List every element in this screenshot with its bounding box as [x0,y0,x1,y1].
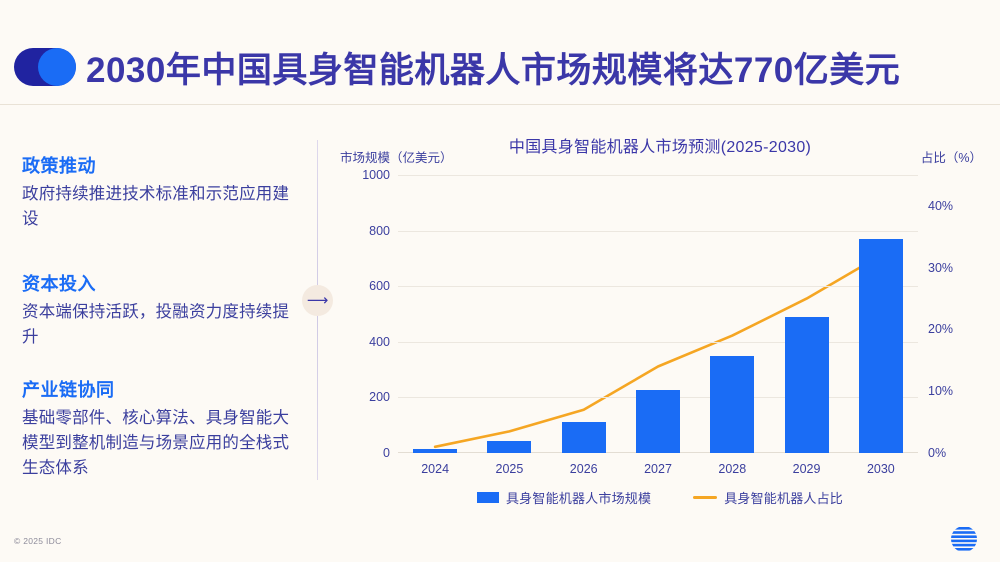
bar-2029 [785,317,829,453]
x-axis-tick-label: 2024 [421,462,449,476]
y-axis-tick-label: 400 [369,335,390,349]
arrow-right-icon: ⟶ [302,285,333,316]
market-forecast-chart: 中国具身智能机器人市场预测(2025-2030) 市场规模（亿美元） 占比（%）… [330,125,990,525]
y2-axis-label: 占比（%） [921,147,982,166]
legend-label: 具身智能机器人市场规模 [506,488,651,507]
badge-circle-icon [38,48,76,86]
legend-bar-swatch-icon [477,492,499,503]
key-point-title: 资本投入 [22,270,290,296]
x-axis-tick-label: 2025 [496,462,524,476]
bar-2030 [859,239,903,453]
chart-legend: 具身智能机器人市场规模 具身智能机器人占比 [330,488,990,507]
key-point-title: 产业链协同 [22,376,290,402]
y2-axis-tick-label: 40% [928,199,953,213]
bar-2026 [562,422,606,453]
y-axis-tick-label: 200 [369,390,390,404]
bar-2027 [636,390,680,453]
gridline [398,342,918,343]
copyright-text: © 2025 IDC [14,536,62,546]
bar-2028 [710,356,754,453]
y-axis-tick-label: 600 [369,279,390,293]
y-axis-tick-label: 800 [369,224,390,238]
y2-axis-tick-label: 30% [928,261,953,275]
key-point-item: 产业链协同 基础零部件、核心算法、具身智能大模型到整机制造与场景应用的全栈式生态… [22,376,290,481]
key-point-item: 政策推动 政府持续推进技术标准和示范应用建设 [22,152,290,232]
legend-label: 具身智能机器人占比 [724,488,843,507]
bar-2024 [413,449,457,453]
y2-axis-tick-label: 10% [928,384,953,398]
y2-axis-tick-label: 20% [928,322,953,336]
x-axis-tick-label: 2028 [718,462,746,476]
pill-badge-icon [14,48,76,86]
key-point-body: 政府持续推进技术标准和示范应用建设 [22,182,290,232]
x-axis-tick-label: 2027 [644,462,672,476]
key-point-item: 资本投入 资本端保持活跃，投融资力度持续提升 [22,270,290,350]
key-point-body: 资本端保持活跃，投融资力度持续提升 [22,300,290,350]
y-axis-label: 市场规模（亿美元） [340,147,453,166]
gridline [398,231,918,232]
page-title: 2030年中国具身智能机器人市场规模将达770亿美元 [86,42,900,93]
x-axis-tick-label: 2030 [867,462,895,476]
key-points-panel: 政策推动 政府持续推进技术标准和示范应用建设 资本投入 资本端保持活跃，投融资力… [0,118,300,508]
key-point-body: 基础零部件、核心算法、具身智能大模型到整机制造与场景应用的全栈式生态体系 [22,406,290,481]
legend-line-swatch-icon [693,496,717,500]
y-axis-tick-label: 1000 [362,168,390,182]
plot-area: 020040060080010000%10%20%30%40%202420252… [398,175,918,453]
x-axis-tick-label: 2026 [570,462,598,476]
legend-item-line: 具身智能机器人占比 [693,488,843,507]
legend-item-bar: 具身智能机器人市场规模 [477,488,651,507]
header-divider [0,104,1000,105]
x-axis-tick-label: 2029 [793,462,821,476]
y-axis-tick-label: 0 [383,446,390,460]
idc-globe-icon [944,524,984,554]
bar-2025 [487,441,531,454]
page-header: 2030年中国具身智能机器人市场规模将达770亿美元 [0,0,1000,105]
key-point-title: 政策推动 [22,152,290,178]
y2-axis-tick-label: 0% [928,446,946,460]
gridline [398,286,918,287]
gridline [398,175,918,176]
